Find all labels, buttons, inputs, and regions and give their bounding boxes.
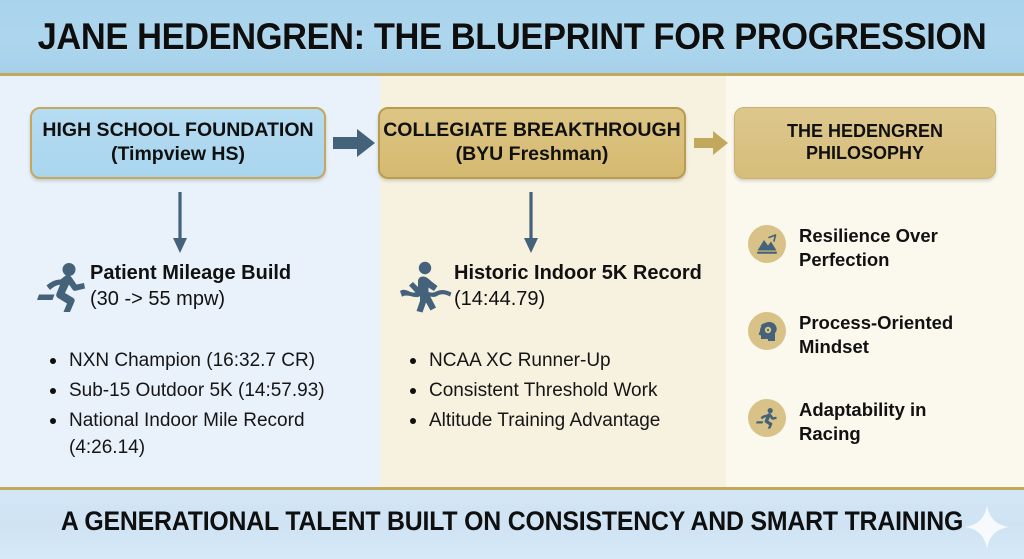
stage-box-high-school-line1: HIGH SCHOOL FOUNDATION: [42, 119, 313, 143]
high-school-heading-light: (30 -> 55 mpw): [90, 288, 225, 310]
stage-box-high-school[interactable]: HIGH SCHOOL FOUNDATION (Timpview HS): [30, 107, 326, 179]
high-school-heading: Patient Mileage Build (30 -> 55 mpw): [34, 258, 364, 313]
head-gears-icon: [748, 312, 786, 350]
mountain-summit-icon: [748, 225, 786, 263]
list-item: NCAA XC Runner-Up: [406, 347, 726, 374]
high-school-heading-text: Patient Mileage Build (30 -> 55 mpw): [90, 258, 291, 313]
high-school-heading-strong: Patient Mileage Build: [90, 262, 291, 284]
header-band: JANE HEDENGREN: THE BLUEPRINT FOR PROGRE…: [0, 0, 1024, 76]
collegiate-heading-strong: Historic Indoor 5K Record: [454, 262, 702, 284]
collegiate-heading: Historic Indoor 5K Record (14:44.79): [398, 258, 718, 314]
arrow-collegiate-to-philosophy-icon: [694, 130, 728, 156]
arrow-high-school-to-collegiate-icon: [333, 128, 375, 158]
philosophy-item-process: Process-Oriented Mindset: [748, 311, 981, 359]
philosophy-item-label: Process-Oriented Mindset: [799, 311, 981, 359]
list-item: Altitude Training Advantage: [406, 407, 726, 434]
stage-box-high-school-line2: (Timpview HS): [42, 143, 313, 167]
list-item: NXN Champion (16:32.7 CR): [46, 347, 376, 374]
footer-band: A GENERATIONAL TALENT BUILT ON CONSISTEN…: [0, 487, 1024, 559]
list-item: Consistent Threshold Work: [406, 377, 726, 404]
page-title: JANE HEDENGREN: THE BLUEPRINT FOR PROGRE…: [36, 16, 988, 58]
running-person-icon: [34, 258, 90, 312]
stage-box-collegiate-line1: COLLEGIATE BREAKTHROUGH: [383, 119, 681, 143]
infographic-root: JANE HEDENGREN: THE BLUEPRINT FOR PROGRE…: [0, 0, 1024, 559]
connector-arrow-high-school-icon: [172, 192, 188, 254]
collegiate-bullet-list: NCAA XC Runner-Up Consistent Threshold W…: [406, 347, 726, 437]
connector-arrow-collegiate-icon: [523, 192, 539, 254]
footer-tagline: A GENERATIONAL TALENT BUILT ON CONSISTEN…: [41, 506, 983, 537]
philosophy-item-label: Adaptability in Racing: [799, 398, 981, 446]
collegiate-heading-text: Historic Indoor 5K Record (14:44.79): [454, 258, 718, 313]
sparkle-icon: [964, 504, 1010, 550]
stage-box-collegiate[interactable]: COLLEGIATE BREAKTHROUGH (BYU Freshman): [378, 107, 686, 179]
philosophy-item-resilience: Resilience Over Perfection: [748, 224, 981, 272]
runner-icon: [748, 399, 786, 437]
stage-box-philosophy-line1: THE HEDENGREN: [787, 121, 943, 143]
finish-line-runner-icon: [398, 258, 454, 314]
list-item: Sub-15 Outdoor 5K (14:57.93): [46, 377, 376, 404]
stage-box-collegiate-line2: (BYU Freshman): [383, 143, 681, 167]
stage-box-philosophy[interactable]: THE HEDENGREN PHILOSOPHY: [734, 107, 996, 179]
list-item: National Indoor Mile Record (4:26.14): [46, 407, 376, 461]
collegiate-heading-light: (14:44.79): [454, 288, 545, 310]
philosophy-item-adaptability: Adaptability in Racing: [748, 398, 981, 446]
philosophy-item-label: Resilience Over Perfection: [799, 224, 981, 272]
stage-box-philosophy-line2: PHILOSOPHY: [787, 143, 943, 165]
high-school-bullet-list: NXN Champion (16:32.7 CR) Sub-15 Outdoor…: [46, 347, 376, 465]
